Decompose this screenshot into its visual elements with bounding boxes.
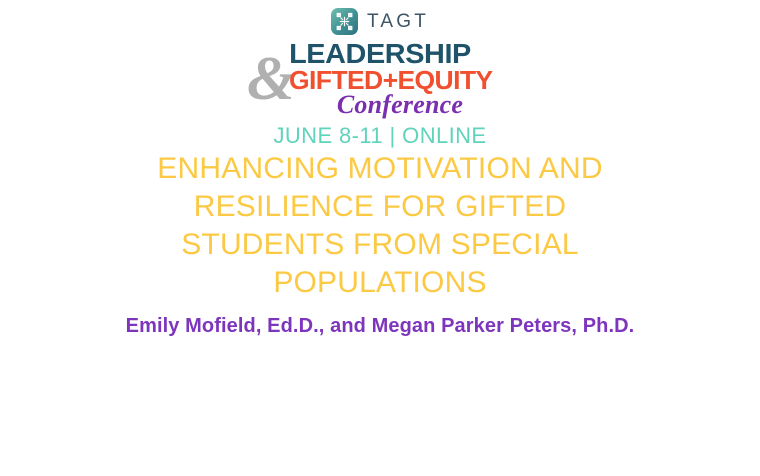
tagt-brand-row: TAGT — [230, 4, 530, 38]
tagt-wordmark: TAGT — [367, 11, 429, 31]
slide-title: ENHANCING MOTIVATION AND RESILIENCE FOR … — [100, 150, 660, 302]
slide-title-line-1: ENHANCING MOTIVATION AND — [100, 150, 660, 188]
tagt-logo-mark-icon — [331, 8, 358, 35]
presenter-byline: Emily Mofield, Ed.D., and Megan Parker P… — [30, 313, 730, 339]
slide-title-line-3: STUDENTS FROM SPECIAL — [100, 226, 660, 264]
conference-script-text: Conference — [230, 92, 530, 118]
slide-title-line-2: RESILIENCE FOR GIFTED — [100, 188, 660, 226]
conference-logo-lockup: TAGT & LEADERSHIP GIFTED+EQUITY Conferen… — [230, 0, 530, 132]
leadership-text: LEADERSHIP — [226, 40, 535, 68]
presentation-title-slide: TAGT & LEADERSHIP GIFTED+EQUITY Conferen… — [0, 0, 760, 476]
slide-title-line-4: POPULATIONS — [100, 264, 660, 302]
conference-dateline: JUNE 8-11 | ONLINE — [230, 125, 530, 147]
